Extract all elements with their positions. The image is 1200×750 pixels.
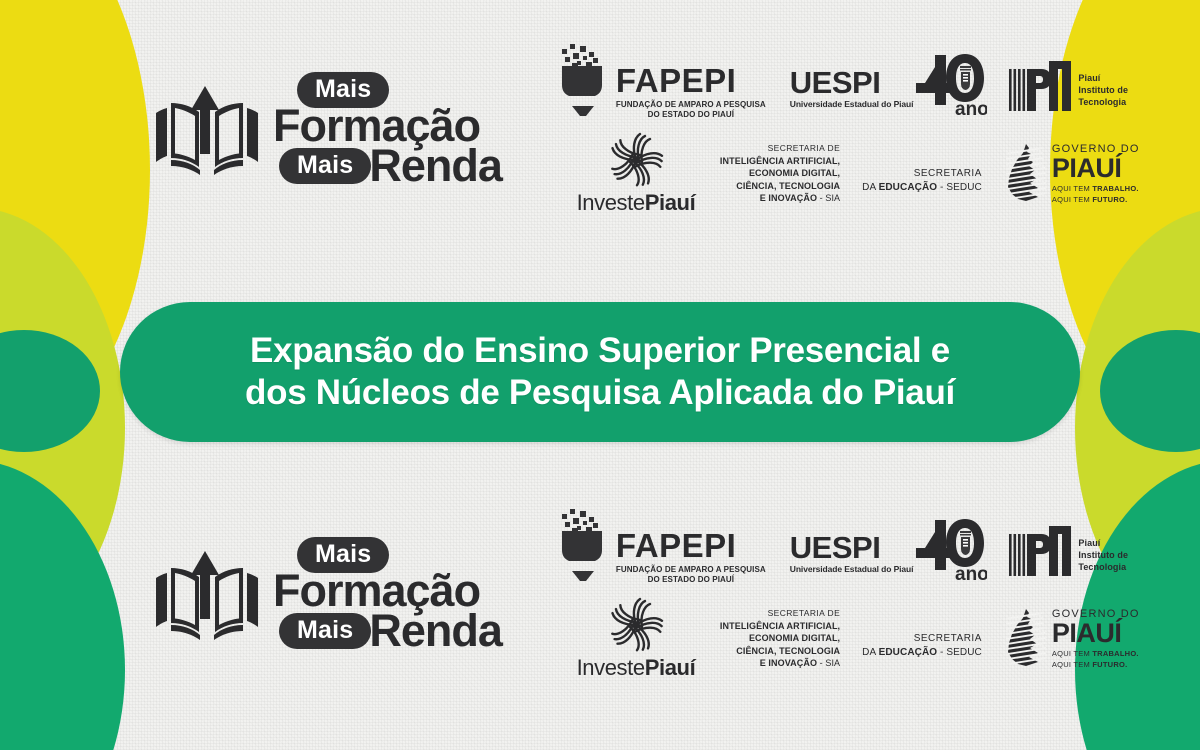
logo-row-top: Mais Formação Mais Renda bbox=[0, 30, 1200, 230]
seduc-line2-bold: EDUCAÇÃO bbox=[879, 182, 938, 193]
mais-formacao-mais-renda-logo: Mais Formação Mais Renda bbox=[155, 537, 502, 653]
sia-secretariat-label: SECRETARIA DE INTELIGÊNCIA ARTIFICIAL, E… bbox=[720, 608, 840, 669]
anos-word: anos bbox=[955, 99, 987, 119]
governo-do-piaui-logo: GOVERNO DO PIAUÍ AQUI TEM TRABALHO. AQUI… bbox=[1006, 142, 1140, 205]
logo-row-bottom: Mais Formação Mais Renda bbox=[0, 495, 1200, 695]
governo-line2: PIAUÍ bbox=[1052, 155, 1140, 183]
sia-line5: E INOVAÇÃO bbox=[760, 658, 817, 668]
investe-piaui-logo: InvestePiauí bbox=[560, 597, 712, 681]
fapepi-logo: FAPEPI FUNDAÇÃO DE AMPARO A PESQUISA DO … bbox=[556, 50, 766, 122]
fapepi-name: FAPEPI bbox=[616, 529, 766, 562]
pit-sub-line3: Tecnologia bbox=[1078, 97, 1128, 109]
partner-line-2: InvestePiauí SECRETARIA DE INTELIGÊNCIA … bbox=[556, 132, 1140, 216]
seduc-line1: SECRETARIA bbox=[862, 632, 982, 646]
investe-word-bold: Piauí bbox=[645, 655, 696, 680]
pill-mais-bottom: Mais bbox=[279, 613, 371, 649]
banner-title-line1: Expansão do Ensino Superior Presencial e bbox=[250, 330, 950, 372]
fapepi-pixel-vessel-icon bbox=[556, 509, 608, 587]
governo-tagline-b-bold: FUTURO. bbox=[1092, 195, 1127, 204]
uespi-name: UESPI bbox=[790, 532, 914, 563]
sia-secretariat-label: SECRETARIA DE INTELIGÊNCIA ARTIFICIAL, E… bbox=[720, 143, 840, 204]
pinwheel-icon bbox=[607, 597, 665, 653]
pit-logo: Piauí Instituto de Tecnologia bbox=[1009, 61, 1128, 111]
mais-formacao-mais-renda-logo: Mais Formação Mais Renda bbox=[155, 72, 502, 188]
pit-monogram-icon bbox=[1009, 61, 1071, 111]
pit-sub-line1: Piauí bbox=[1078, 538, 1128, 550]
renda-line: Mais Renda bbox=[279, 608, 502, 653]
seduc-line2-post: - SEDUC bbox=[937, 647, 982, 658]
piaui-state-map-icon bbox=[1006, 143, 1046, 205]
investe-word-bold: Piauí bbox=[645, 190, 696, 215]
sia-line4: CIÊNCIA, TECNOLOGIA bbox=[720, 645, 840, 657]
uespi-subtitle: Universidade Estadual do Piauí bbox=[790, 99, 914, 109]
piaui-state-map-icon bbox=[1006, 608, 1046, 670]
governo-tagline-b-bold: FUTURO. bbox=[1092, 660, 1127, 669]
governo-tagline-a: AQUI TEM bbox=[1052, 184, 1092, 193]
investe-word-light: Investe bbox=[577, 190, 645, 215]
pill-mais-bottom: Mais bbox=[279, 148, 371, 184]
seduc-line2-pre: DA bbox=[862, 182, 878, 193]
uespi-logo: UESPI Universidade Estadual do Piauí bbox=[790, 53, 988, 119]
fapepi-sub-line1: FUNDAÇÃO DE AMPARO A PESQUISA bbox=[616, 565, 766, 575]
renda-line: Mais Renda bbox=[279, 143, 502, 188]
fapepi-sub-line2: DO ESTADO DO PIAUÍ bbox=[616, 575, 766, 585]
governo-tagline-b: AQUI TEM bbox=[1052, 660, 1092, 669]
sia-line5: E INOVAÇÃO bbox=[760, 193, 817, 203]
pit-monogram-icon bbox=[1009, 526, 1071, 576]
investe-word-light: Investe bbox=[577, 655, 645, 680]
poster-canvas: Mais Formação Mais Renda bbox=[0, 0, 1200, 750]
governo-tagline-a: AQUI TEM bbox=[1052, 649, 1092, 658]
sia-line1: SECRETARIA DE bbox=[720, 143, 840, 155]
sia-line3: ECONOMIA DIGITAL, bbox=[720, 167, 840, 179]
seduc-secretariat-label: SECRETARIA DA EDUCAÇÃO - SEDUC bbox=[862, 618, 982, 660]
pit-sub-line2: Instituto de bbox=[1078, 550, 1128, 562]
seduc-line2-pre: DA bbox=[862, 647, 878, 658]
fapepi-pixel-vessel-icon bbox=[556, 44, 608, 122]
brand-wordmark: Mais Formação Mais Renda bbox=[273, 537, 502, 653]
pit-sub-line1: Piauí bbox=[1078, 73, 1128, 85]
word-renda: Renda bbox=[369, 608, 502, 653]
sia-line2: INTELIGÊNCIA ARTIFICIAL, bbox=[720, 620, 840, 632]
sia-tag: - SIA bbox=[817, 658, 840, 668]
word-renda: Renda bbox=[369, 143, 502, 188]
governo-tagline-b: AQUI TEM bbox=[1052, 195, 1092, 204]
seduc-line2-post: - SEDUC bbox=[937, 182, 982, 193]
sia-line3: ECONOMIA DIGITAL, bbox=[720, 632, 840, 644]
governo-do-piaui-logo: GOVERNO DO PIAUÍ AQUI TEM TRABALHO. AQUI… bbox=[1006, 607, 1140, 670]
fapepi-name: FAPEPI bbox=[616, 64, 766, 97]
uespi-name: UESPI bbox=[790, 67, 914, 98]
partner-line-1: FAPEPI FUNDAÇÃO DE AMPARO A PESQUISA DO … bbox=[556, 50, 1140, 122]
governo-tagline-a-bold: TRABALHO. bbox=[1092, 184, 1138, 193]
partner-line-2: InvestePiauí SECRETARIA DE INTELIGÊNCIA … bbox=[556, 597, 1140, 681]
seduc-line1: SECRETARIA bbox=[862, 167, 982, 181]
uespi-logo: UESPI Universidade Estadual do Piauí bbox=[790, 518, 988, 584]
uespi-40-anos-icon: anos bbox=[913, 53, 987, 119]
fapepi-sub-line2: DO ESTADO DO PIAUÍ bbox=[616, 110, 766, 120]
governo-tagline-a-bold: TRABALHO. bbox=[1092, 649, 1138, 658]
uespi-subtitle: Universidade Estadual do Piauí bbox=[790, 564, 914, 574]
brand-wordmark: Mais Formação Mais Renda bbox=[273, 72, 502, 188]
pit-logo: Piauí Instituto de Tecnologia bbox=[1009, 526, 1128, 576]
sia-line2: INTELIGÊNCIA ARTIFICIAL, bbox=[720, 155, 840, 167]
banner-title-line2: dos Núcleos de Pesquisa Aplicada do Piau… bbox=[245, 372, 955, 414]
partner-logos: FAPEPI FUNDAÇÃO DE AMPARO A PESQUISA DO … bbox=[556, 44, 1140, 216]
open-book-arrow-icon bbox=[155, 82, 259, 178]
open-book-arrow-icon bbox=[155, 547, 259, 643]
pit-sub-line3: Tecnologia bbox=[1078, 562, 1128, 574]
pinwheel-icon bbox=[607, 132, 665, 188]
sia-line1: SECRETARIA DE bbox=[720, 608, 840, 620]
seduc-line2-bold: EDUCAÇÃO bbox=[879, 647, 938, 658]
partner-line-1: FAPEPI FUNDAÇÃO DE AMPARO A PESQUISA DO … bbox=[556, 515, 1140, 587]
title-banner: Expansão do Ensino Superior Presencial e… bbox=[120, 302, 1080, 442]
partner-logos: FAPEPI FUNDAÇÃO DE AMPARO A PESQUISA DO … bbox=[556, 509, 1140, 681]
fapepi-sub-line1: FUNDAÇÃO DE AMPARO A PESQUISA bbox=[616, 100, 766, 110]
sia-line4: CIÊNCIA, TECNOLOGIA bbox=[720, 180, 840, 192]
governo-line2: PIAUÍ bbox=[1052, 620, 1140, 648]
fapepi-logo: FAPEPI FUNDAÇÃO DE AMPARO A PESQUISA DO … bbox=[556, 515, 766, 587]
anos-word: anos bbox=[955, 564, 987, 584]
investe-piaui-logo: InvestePiauí bbox=[560, 132, 712, 216]
seduc-secretariat-label: SECRETARIA DA EDUCAÇÃO - SEDUC bbox=[862, 153, 982, 195]
uespi-40-anos-icon: anos bbox=[913, 518, 987, 584]
sia-tag: - SIA bbox=[817, 193, 840, 203]
pit-sub-line2: Instituto de bbox=[1078, 85, 1128, 97]
